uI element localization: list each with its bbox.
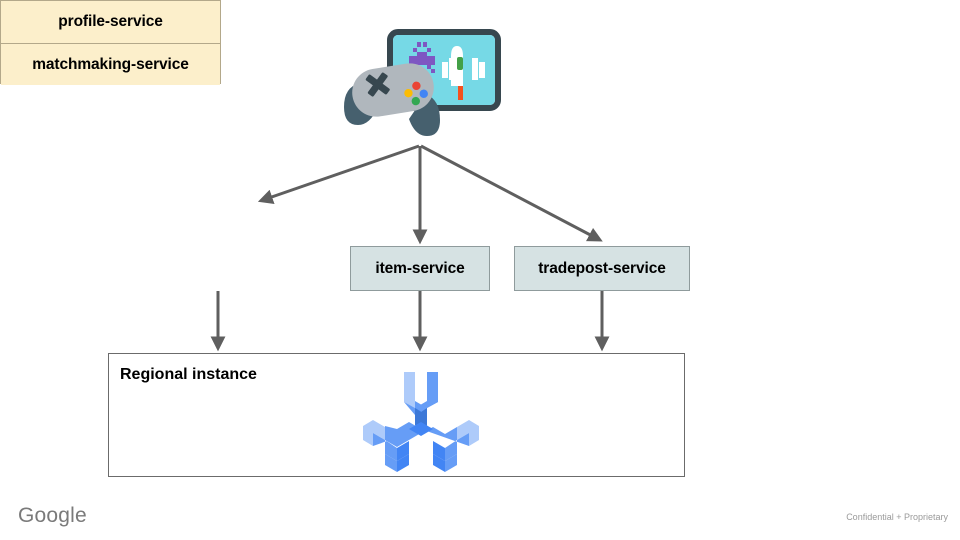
service-label-item-service: item-service [375, 261, 464, 277]
slide-canvas: profile-service matchmaking-service item… [0, 0, 960, 540]
service-box-profile-service[interactable]: profile-service [1, 1, 220, 43]
service-label-tradepost-service: tradepost-service [538, 261, 666, 277]
gke-cluster-icon [359, 370, 483, 474]
service-label-matchmaking-service: matchmaking-service [32, 57, 189, 73]
regional-instance-title: Regional instance [120, 367, 257, 383]
regional-instance-box[interactable]: Regional instance [108, 353, 685, 477]
edge-hero-to-profile-service [263, 146, 419, 200]
edge-hero-to-tradepost-service [421, 146, 598, 239]
service-box-item-service[interactable]: item-service [350, 246, 490, 291]
service-label-profile-service: profile-service [58, 14, 162, 30]
confidential-note: Confidential + Proprietary [846, 513, 948, 522]
google-logo: Google [18, 505, 87, 526]
service-box-tradepost-service[interactable]: tradepost-service [514, 246, 690, 291]
service-group-profile-matchmaking: profile-service matchmaking-service [0, 0, 221, 84]
game-controller-and-screen-icon [338, 28, 508, 148]
service-box-matchmaking-service[interactable]: matchmaking-service [1, 43, 220, 85]
